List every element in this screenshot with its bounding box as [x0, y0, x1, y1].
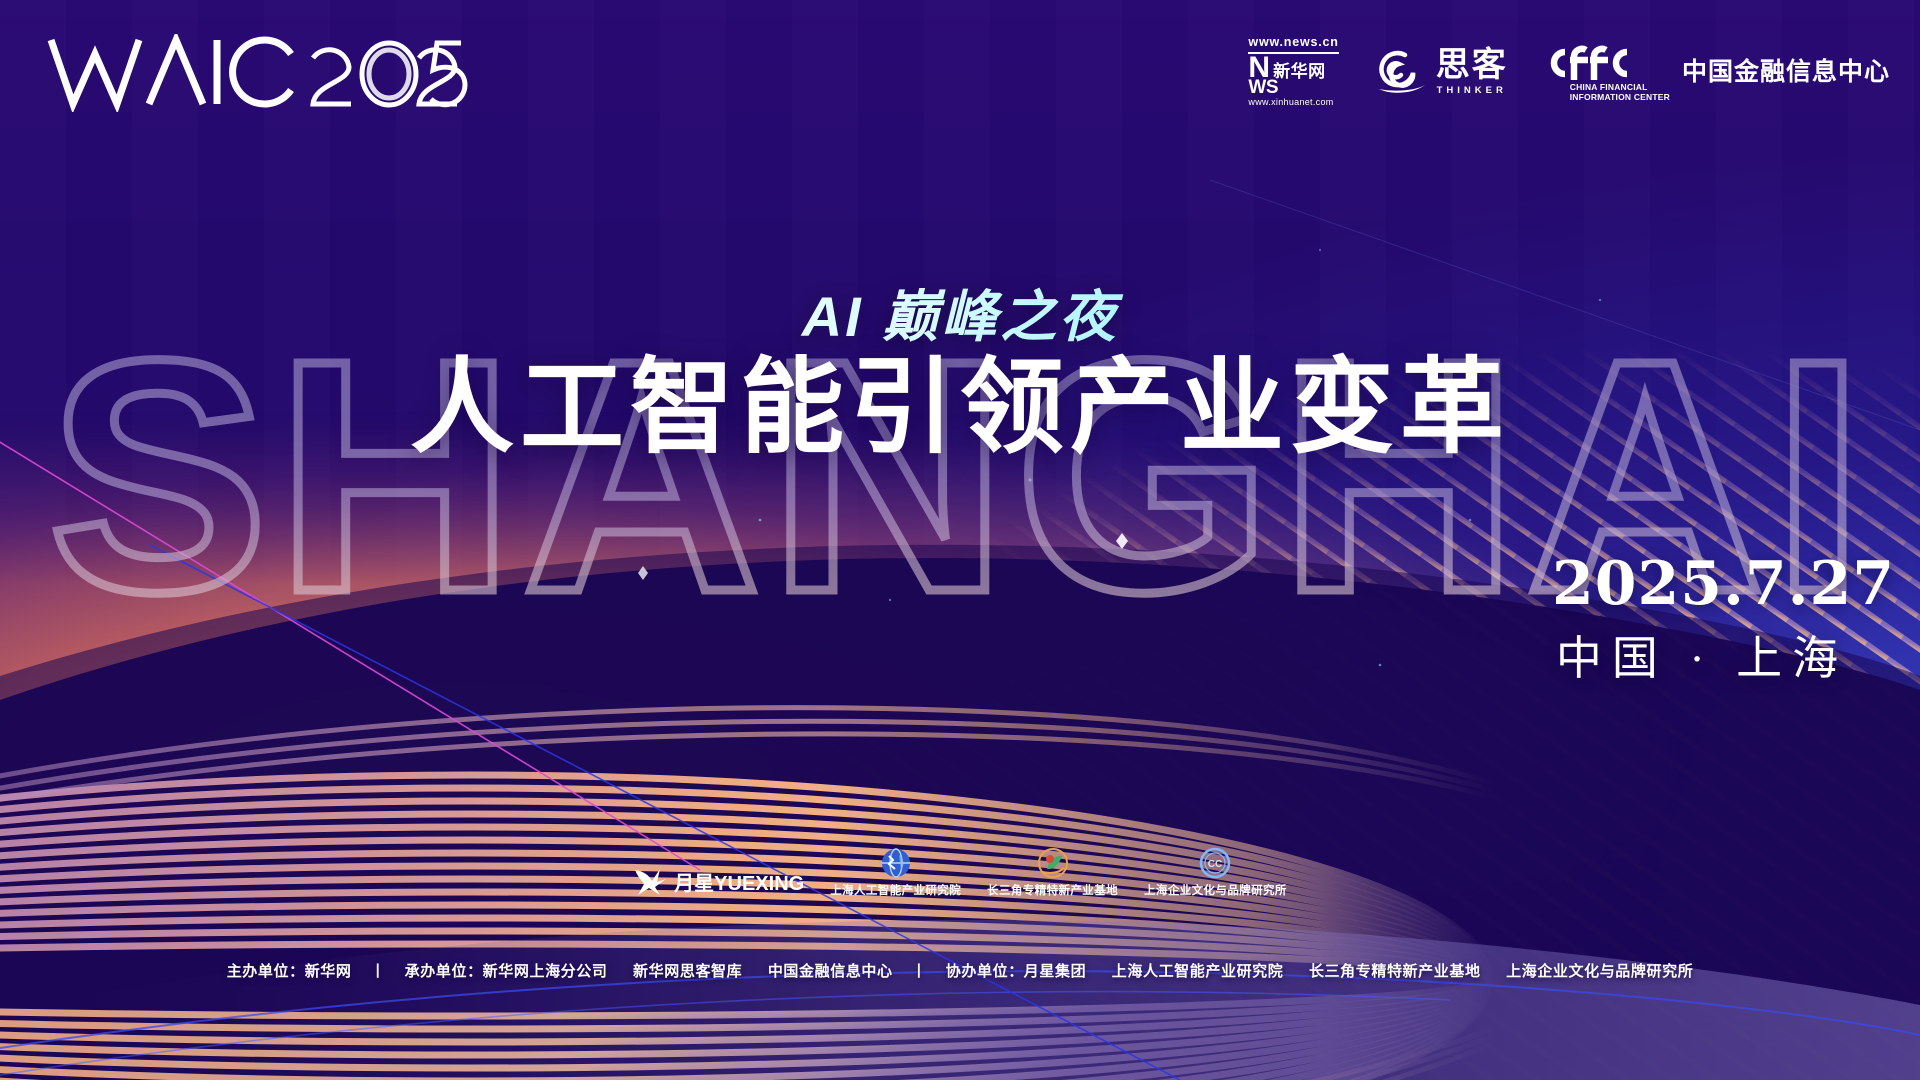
credit-separator-2: 丨	[911, 960, 927, 981]
cfic-cn-name: 中国金融信息中心	[1682, 60, 1890, 85]
credit-organizer-3: 中国金融信息中心	[768, 963, 893, 980]
sponsor-yrd-base: 长三角专精特新产业基地	[987, 846, 1118, 898]
event-date-block: 2025.7.27 中国 · 上海	[1552, 554, 1852, 682]
sponsor-yrd-base-label: 长三角专精特新产业基地	[987, 882, 1118, 898]
xinhua-url-top: www.news.cn	[1248, 36, 1338, 50]
xinhua-url-bottom: www.xinhuanet.com	[1248, 97, 1333, 108]
hero-subtitle: AI 巅峰之夜	[0, 272, 1920, 353]
credit-coorganizer-3: 长三角专精特新产业基地	[1309, 963, 1481, 980]
shanghai-watermark: SHANGHAI	[0, 0, 1920, 1080]
credit-coorganizer-2: 上海人工智能产业研究院	[1112, 963, 1284, 980]
event-date: 2025.7.27	[1552, 554, 1852, 614]
poster-canvas: SHANGHAI	[0, 0, 1920, 1080]
sponsor-yuexing-label: 月星YUEXING	[674, 867, 804, 896]
sponsor-secbri-label: 上海企业文化与品牌研究所	[1144, 882, 1287, 898]
credit-host: 主办单位：新华网	[227, 963, 352, 980]
cfic-en-line2: INFORMATION CENTER	[1570, 92, 1670, 102]
partner-logo-cfic: CHINA FINANCIAL INFORMATION CENTER 中国金融信…	[1544, 42, 1890, 103]
sponsor-yuexing: 月星YUEXING	[633, 864, 804, 898]
credit-organizer-2: 新华网思客智库	[633, 963, 742, 980]
cfic-en-line1: CHINA FINANCIAL	[1570, 82, 1670, 92]
partner-logo-row: www.news.cn N 新华网 WS www.xinhuanet.com 思…	[1248, 36, 1890, 108]
svg-text:CC: CC	[1208, 859, 1222, 870]
credit-coorganizer: 协办单位：月星集团	[946, 963, 1086, 980]
sponsor-logo-row: 月星YUEXING 上海人工智能产业研究院	[0, 846, 1920, 898]
hero-headline: 人工智能引领产业变革	[0, 352, 1920, 464]
sponsor-saii: 上海人工智能产业研究院	[830, 846, 961, 898]
partner-logo-thinker: 思客 THINKER	[1375, 47, 1508, 97]
xinhua-ws: WS	[1248, 80, 1278, 96]
thinker-en-name: THINKER	[1436, 85, 1508, 96]
waic-logo-mark	[45, 34, 475, 112]
event-location: 中国 · 上海	[1552, 636, 1852, 682]
credits-line: 主办单位：新华网 丨 承办单位：新华网上海分公司 新华网思客智库 中国金融信息中…	[0, 960, 1920, 981]
thinker-swirl-icon	[1375, 47, 1427, 97]
globe-icon	[880, 846, 912, 880]
sponsor-secbri: CC 上海企业文化与品牌研究所	[1144, 846, 1287, 898]
sponsor-saii-label: 上海人工智能产业研究院	[830, 882, 961, 898]
waic-logo	[45, 34, 475, 112]
cfic-mark-icon	[1544, 42, 1630, 82]
xinhua-cn-name: 新华网	[1273, 63, 1326, 80]
partner-logo-xinhua: www.news.cn N 新华网 WS www.xinhuanet.com	[1248, 36, 1338, 108]
thinker-cn-name: 思客	[1436, 49, 1508, 83]
credit-coorganizer-4: 上海企业文化与品牌研究所	[1506, 963, 1693, 980]
emblem-icon	[1037, 846, 1069, 880]
yuexing-bird-icon	[633, 864, 667, 898]
circle-badge-icon: CC	[1199, 846, 1231, 880]
credit-organizer: 承办单位：新华网上海分公司	[405, 963, 608, 980]
credit-separator-1: 丨	[370, 960, 386, 981]
